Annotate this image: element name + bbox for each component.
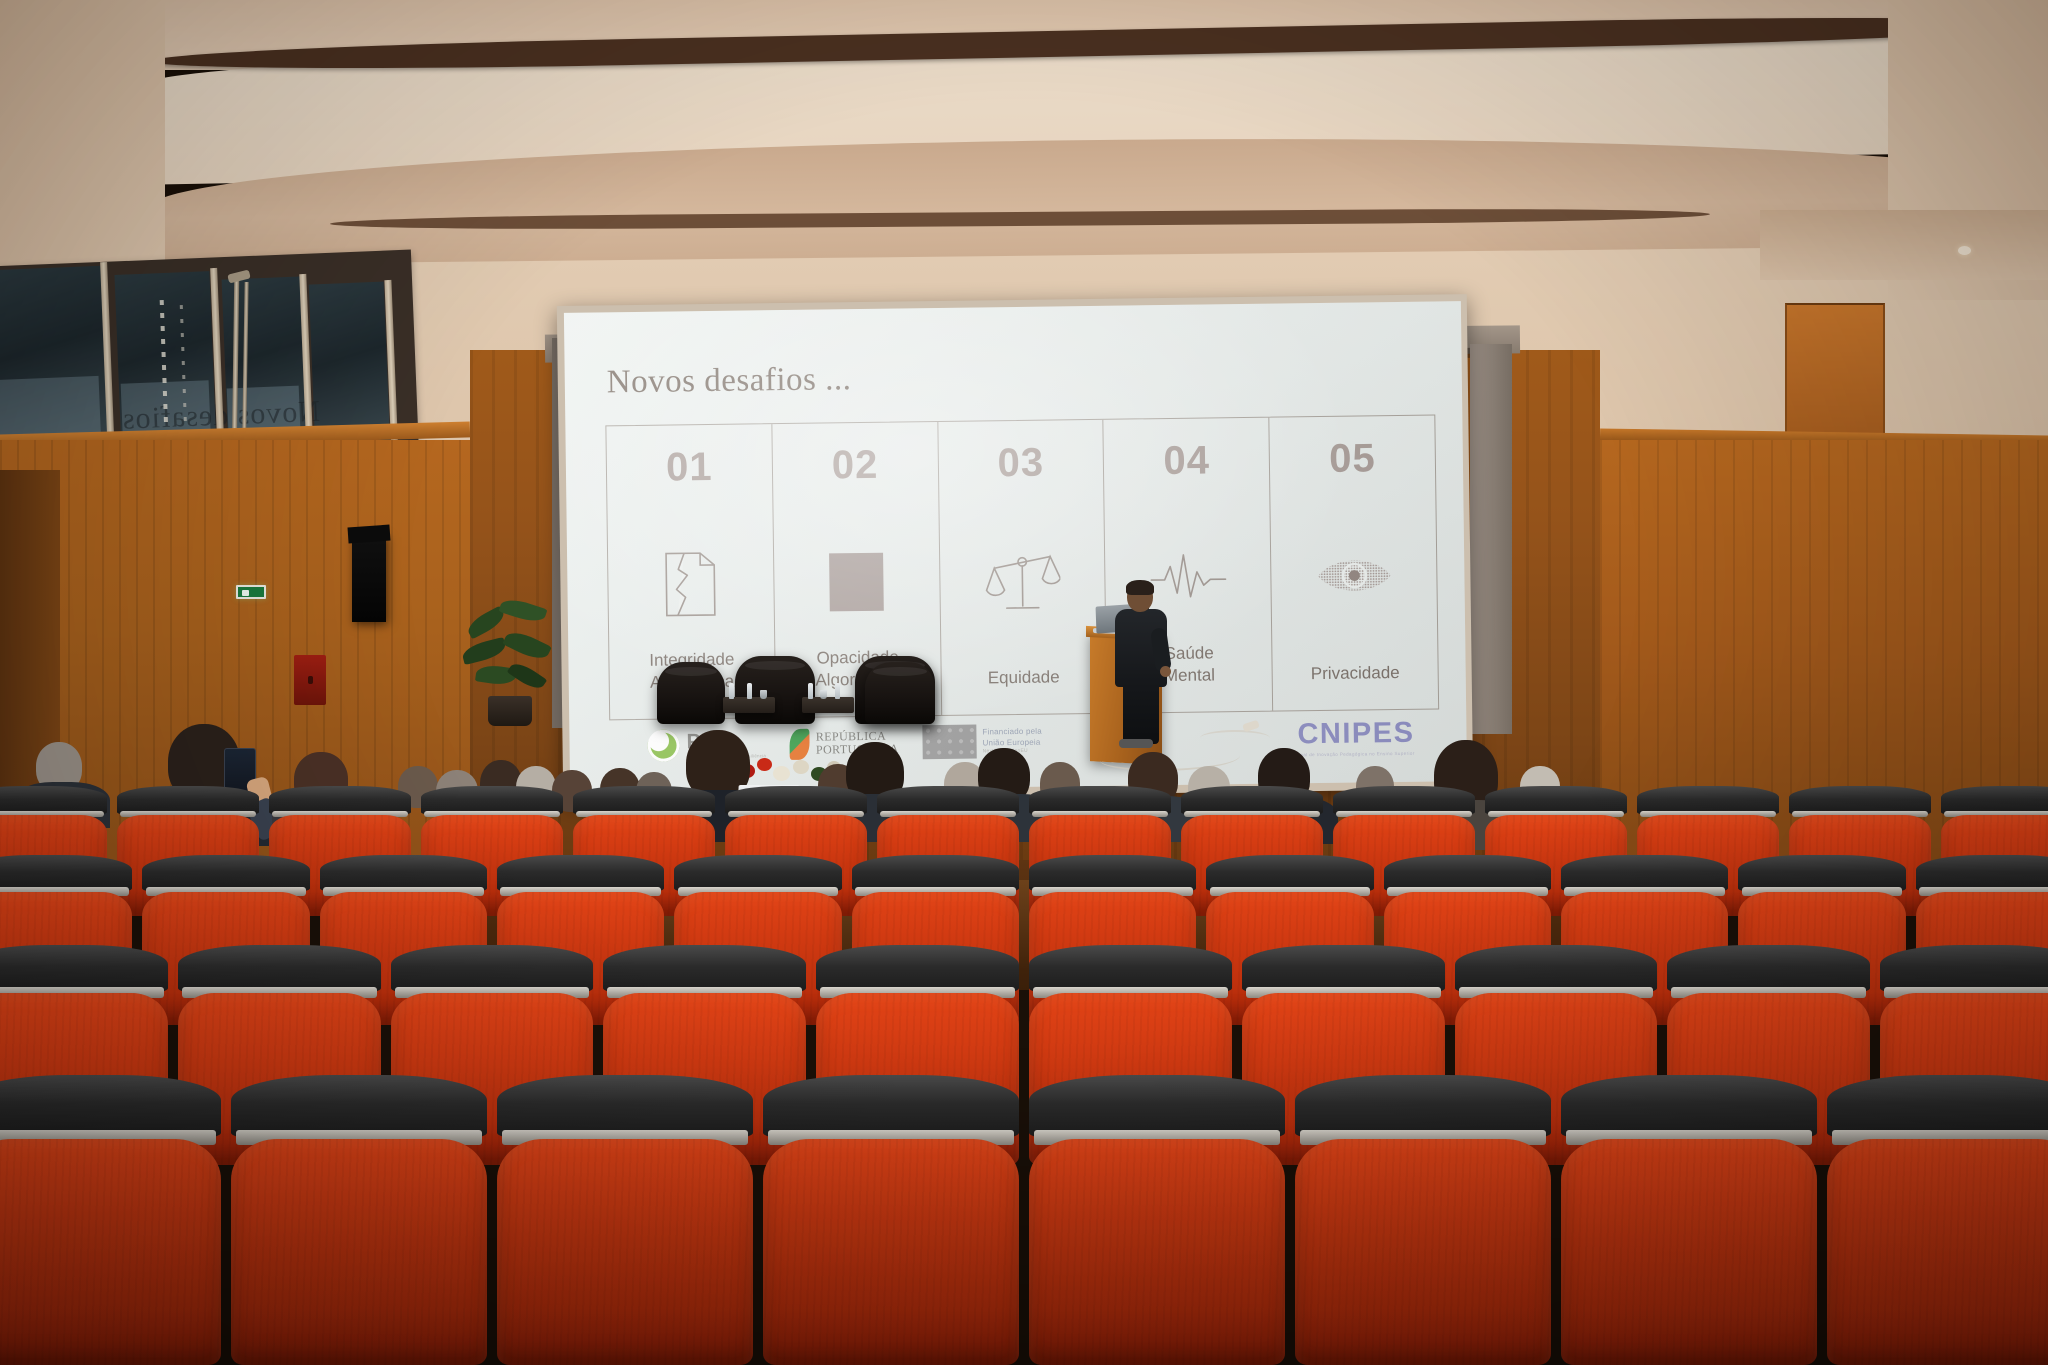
seat-row xyxy=(0,1075,2048,1365)
theatre-seat[interactable] xyxy=(497,1075,753,1365)
card-label: Privacidade xyxy=(1273,661,1438,685)
card-number: 01 xyxy=(666,447,713,488)
drinking-glass xyxy=(760,690,767,699)
left-angled-wall xyxy=(0,0,165,300)
card-number: 03 xyxy=(997,443,1044,484)
card-number: 04 xyxy=(1163,440,1210,481)
theatre-seat[interactable] xyxy=(0,1075,221,1365)
theatre-seat[interactable] xyxy=(231,1075,487,1365)
stage-armchair xyxy=(657,662,725,724)
theatre-seat[interactable] xyxy=(1827,1075,2048,1365)
eu-funding-logo: Financiado pela União Europeia NextGener… xyxy=(922,724,1042,760)
card-label-line2: Mental xyxy=(1164,665,1215,685)
proscenium-right xyxy=(1470,344,1512,734)
theatre-seat[interactable] xyxy=(763,1075,1019,1365)
plant-leaf xyxy=(460,637,507,665)
side-door[interactable] xyxy=(1785,303,1885,443)
plant-leaf xyxy=(498,595,547,625)
challenge-card: 03 xyxy=(938,420,1108,715)
eu-line1: Financiado pela xyxy=(982,726,1042,738)
card-label: Equidade xyxy=(941,665,1106,689)
speaker-person xyxy=(1113,582,1169,742)
theatre-seat[interactable] xyxy=(1561,1075,1817,1365)
ceiling-light xyxy=(1958,246,1971,255)
challenge-card-grid: 01 Integridade Académica 02 xyxy=(605,414,1439,720)
portugal-flag-icon xyxy=(790,728,810,759)
eu-line2: União Europeia xyxy=(982,737,1042,749)
stage-armchair xyxy=(865,662,935,724)
person-legs xyxy=(1123,682,1159,744)
plant-leaf xyxy=(507,659,547,694)
floor-cable xyxy=(1200,730,1270,746)
prr-leaf-icon xyxy=(647,729,679,761)
drinking-glass xyxy=(820,690,827,699)
eu-flag-icon xyxy=(922,725,976,760)
exit-sign-icon xyxy=(236,585,266,599)
balance-scale-icon xyxy=(983,540,1062,619)
eye-icon xyxy=(1314,536,1393,615)
slide-title: Novos desafios ... xyxy=(607,361,852,401)
water-bottle xyxy=(729,683,734,699)
person-hair xyxy=(1126,580,1154,595)
water-bottle xyxy=(747,683,752,699)
fire-box-latch[interactable] xyxy=(308,676,313,684)
cnipes-logo-text: CNIPES xyxy=(1269,719,1415,750)
potted-plant xyxy=(460,598,560,726)
theatre-seat[interactable] xyxy=(1295,1075,1551,1365)
card-label-line1: Privacidade xyxy=(1311,663,1400,683)
card-number: 05 xyxy=(1329,438,1376,479)
auditorium-scene: Novos desafios Novos desafios ... 01 xyxy=(0,0,2048,1365)
projection-screen: Novos desafios ... 01 Integridade Académ… xyxy=(557,294,1473,801)
challenge-card: 05 xyxy=(1270,416,1439,711)
opaque-box-icon xyxy=(817,543,896,622)
plant-pot xyxy=(488,696,532,726)
stage-side-table xyxy=(723,697,775,713)
card-label-line1: Saúde xyxy=(1164,644,1213,664)
plant-leaf xyxy=(502,627,552,664)
wall-speaker-left-bracket xyxy=(347,525,390,544)
card-number: 02 xyxy=(832,445,879,486)
water-bottle xyxy=(835,683,840,699)
wall-speaker-left xyxy=(352,534,386,622)
water-bottle xyxy=(808,683,813,699)
stage-side-table xyxy=(802,697,854,713)
theatre-seat[interactable] xyxy=(1029,1075,1285,1365)
person-hand xyxy=(1160,666,1171,677)
card-label-line1: Equidade xyxy=(988,667,1060,687)
torn-paper-icon xyxy=(651,545,730,624)
ceiling-recess-right xyxy=(1760,210,2048,280)
